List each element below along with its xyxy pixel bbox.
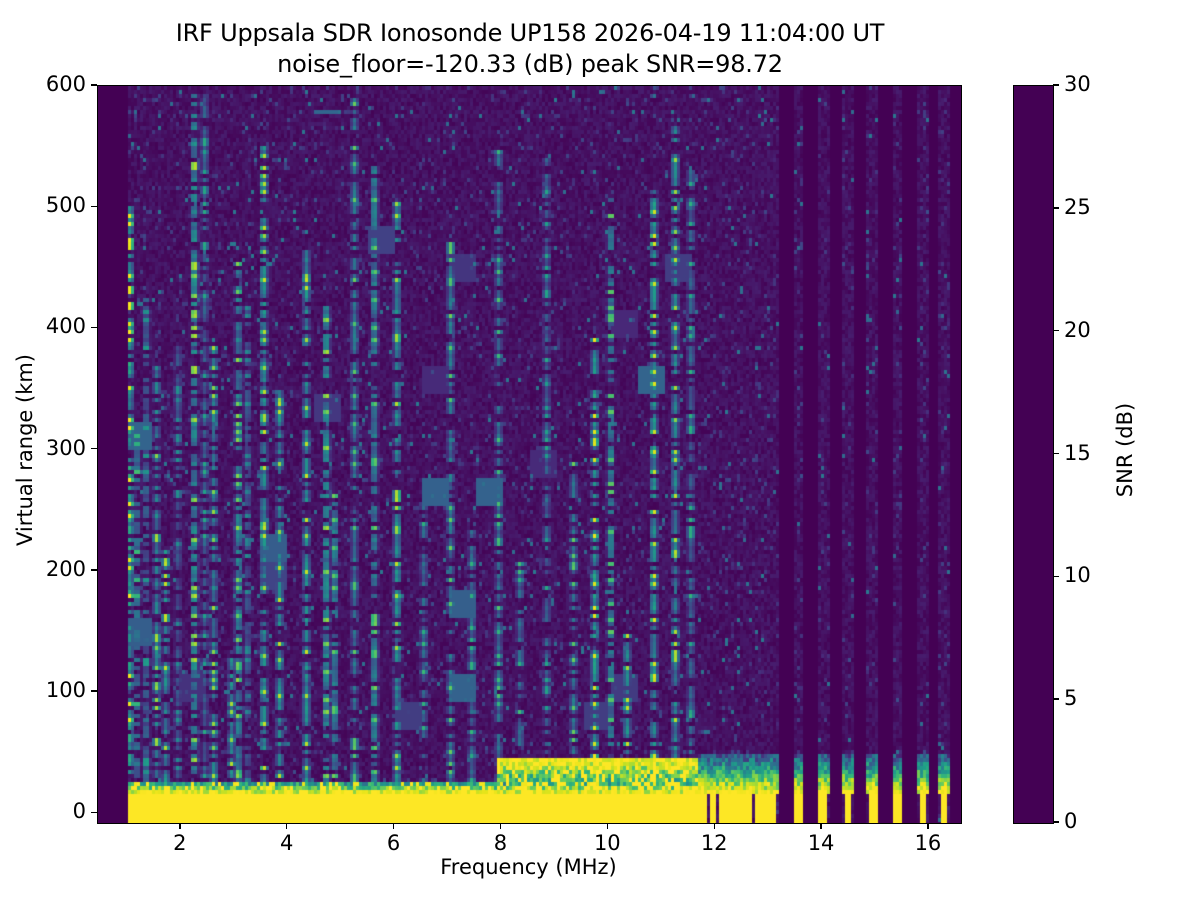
y-tick-mark: [91, 206, 97, 207]
y-tick-label: 300: [46, 436, 86, 460]
colorbar-tick-mark: [1053, 207, 1059, 208]
y-tick-label: 200: [46, 557, 86, 581]
y-tick-label: 600: [46, 72, 86, 96]
title-line-1: IRF Uppsala SDR Ionosonde UP158 2026-04-…: [0, 18, 1060, 49]
colorbar-label-wrap: SNR (dB): [1110, 0, 1140, 900]
colorbar-tick-label: 15: [1064, 441, 1091, 465]
colorbar-tick-mark: [1053, 821, 1059, 822]
x-tick-mark: [820, 823, 821, 829]
y-tick-label: 400: [46, 314, 86, 338]
x-tick-mark: [393, 823, 394, 829]
colorbar-tick-label: 20: [1064, 318, 1091, 342]
y-tick-mark: [91, 448, 97, 449]
colorbar-label: SNR (dB): [1110, 0, 1140, 900]
y-tick-mark: [91, 84, 97, 85]
x-tick-mark: [927, 823, 928, 829]
colorbar-tick-mark: [1053, 453, 1059, 454]
colorbar-gradient: [1014, 86, 1053, 823]
x-tick-mark: [179, 823, 180, 829]
figure-title: IRF Uppsala SDR Ionosonde UP158 2026-04-…: [0, 18, 1060, 80]
x-tick-label: 16: [888, 831, 968, 855]
y-axis-label-wrap: Virtual range (km): [10, 0, 40, 900]
y-tick-mark: [91, 812, 97, 813]
ionogram-plot-area: [97, 85, 962, 824]
colorbar-tick-label: 0: [1064, 809, 1077, 833]
colorbar-tick-mark: [1053, 576, 1059, 577]
x-tick-label: 10: [567, 831, 647, 855]
x-tick-mark: [286, 823, 287, 829]
x-tick-label: 2: [140, 831, 220, 855]
colorbar-tick-mark: [1053, 698, 1059, 699]
x-tick-label: 12: [674, 831, 754, 855]
colorbar-tick-mark: [1053, 84, 1059, 85]
x-tick-label: 6: [354, 831, 434, 855]
colorbar-tick-label: 25: [1064, 195, 1091, 219]
y-tick-mark: [91, 690, 97, 691]
x-tick-label: 8: [460, 831, 540, 855]
ionogram-figure: IRF Uppsala SDR Ionosonde UP158 2026-04-…: [0, 0, 1200, 900]
y-tick-mark: [91, 327, 97, 328]
y-axis-label: Virtual range (km): [10, 0, 40, 900]
x-tick-mark: [607, 823, 608, 829]
colorbar-tick-label: 10: [1064, 563, 1091, 587]
colorbar-tick-mark: [1053, 330, 1059, 331]
colorbar-tick-label: 30: [1064, 72, 1091, 96]
y-tick-mark: [91, 569, 97, 570]
colorbar-tick-label: 5: [1064, 686, 1077, 710]
x-tick-label: 14: [781, 831, 861, 855]
y-tick-label: 500: [46, 193, 86, 217]
ionogram-heatmap: [98, 86, 961, 823]
x-tick-label: 4: [247, 831, 327, 855]
x-tick-mark: [500, 823, 501, 829]
y-tick-label: 0: [73, 799, 86, 823]
colorbar: [1013, 85, 1054, 824]
x-axis-label: Frequency (MHz): [97, 855, 960, 879]
x-tick-mark: [714, 823, 715, 829]
y-tick-label: 100: [46, 678, 86, 702]
title-line-2: noise_floor=-120.33 (dB) peak SNR=98.72: [0, 49, 1060, 80]
